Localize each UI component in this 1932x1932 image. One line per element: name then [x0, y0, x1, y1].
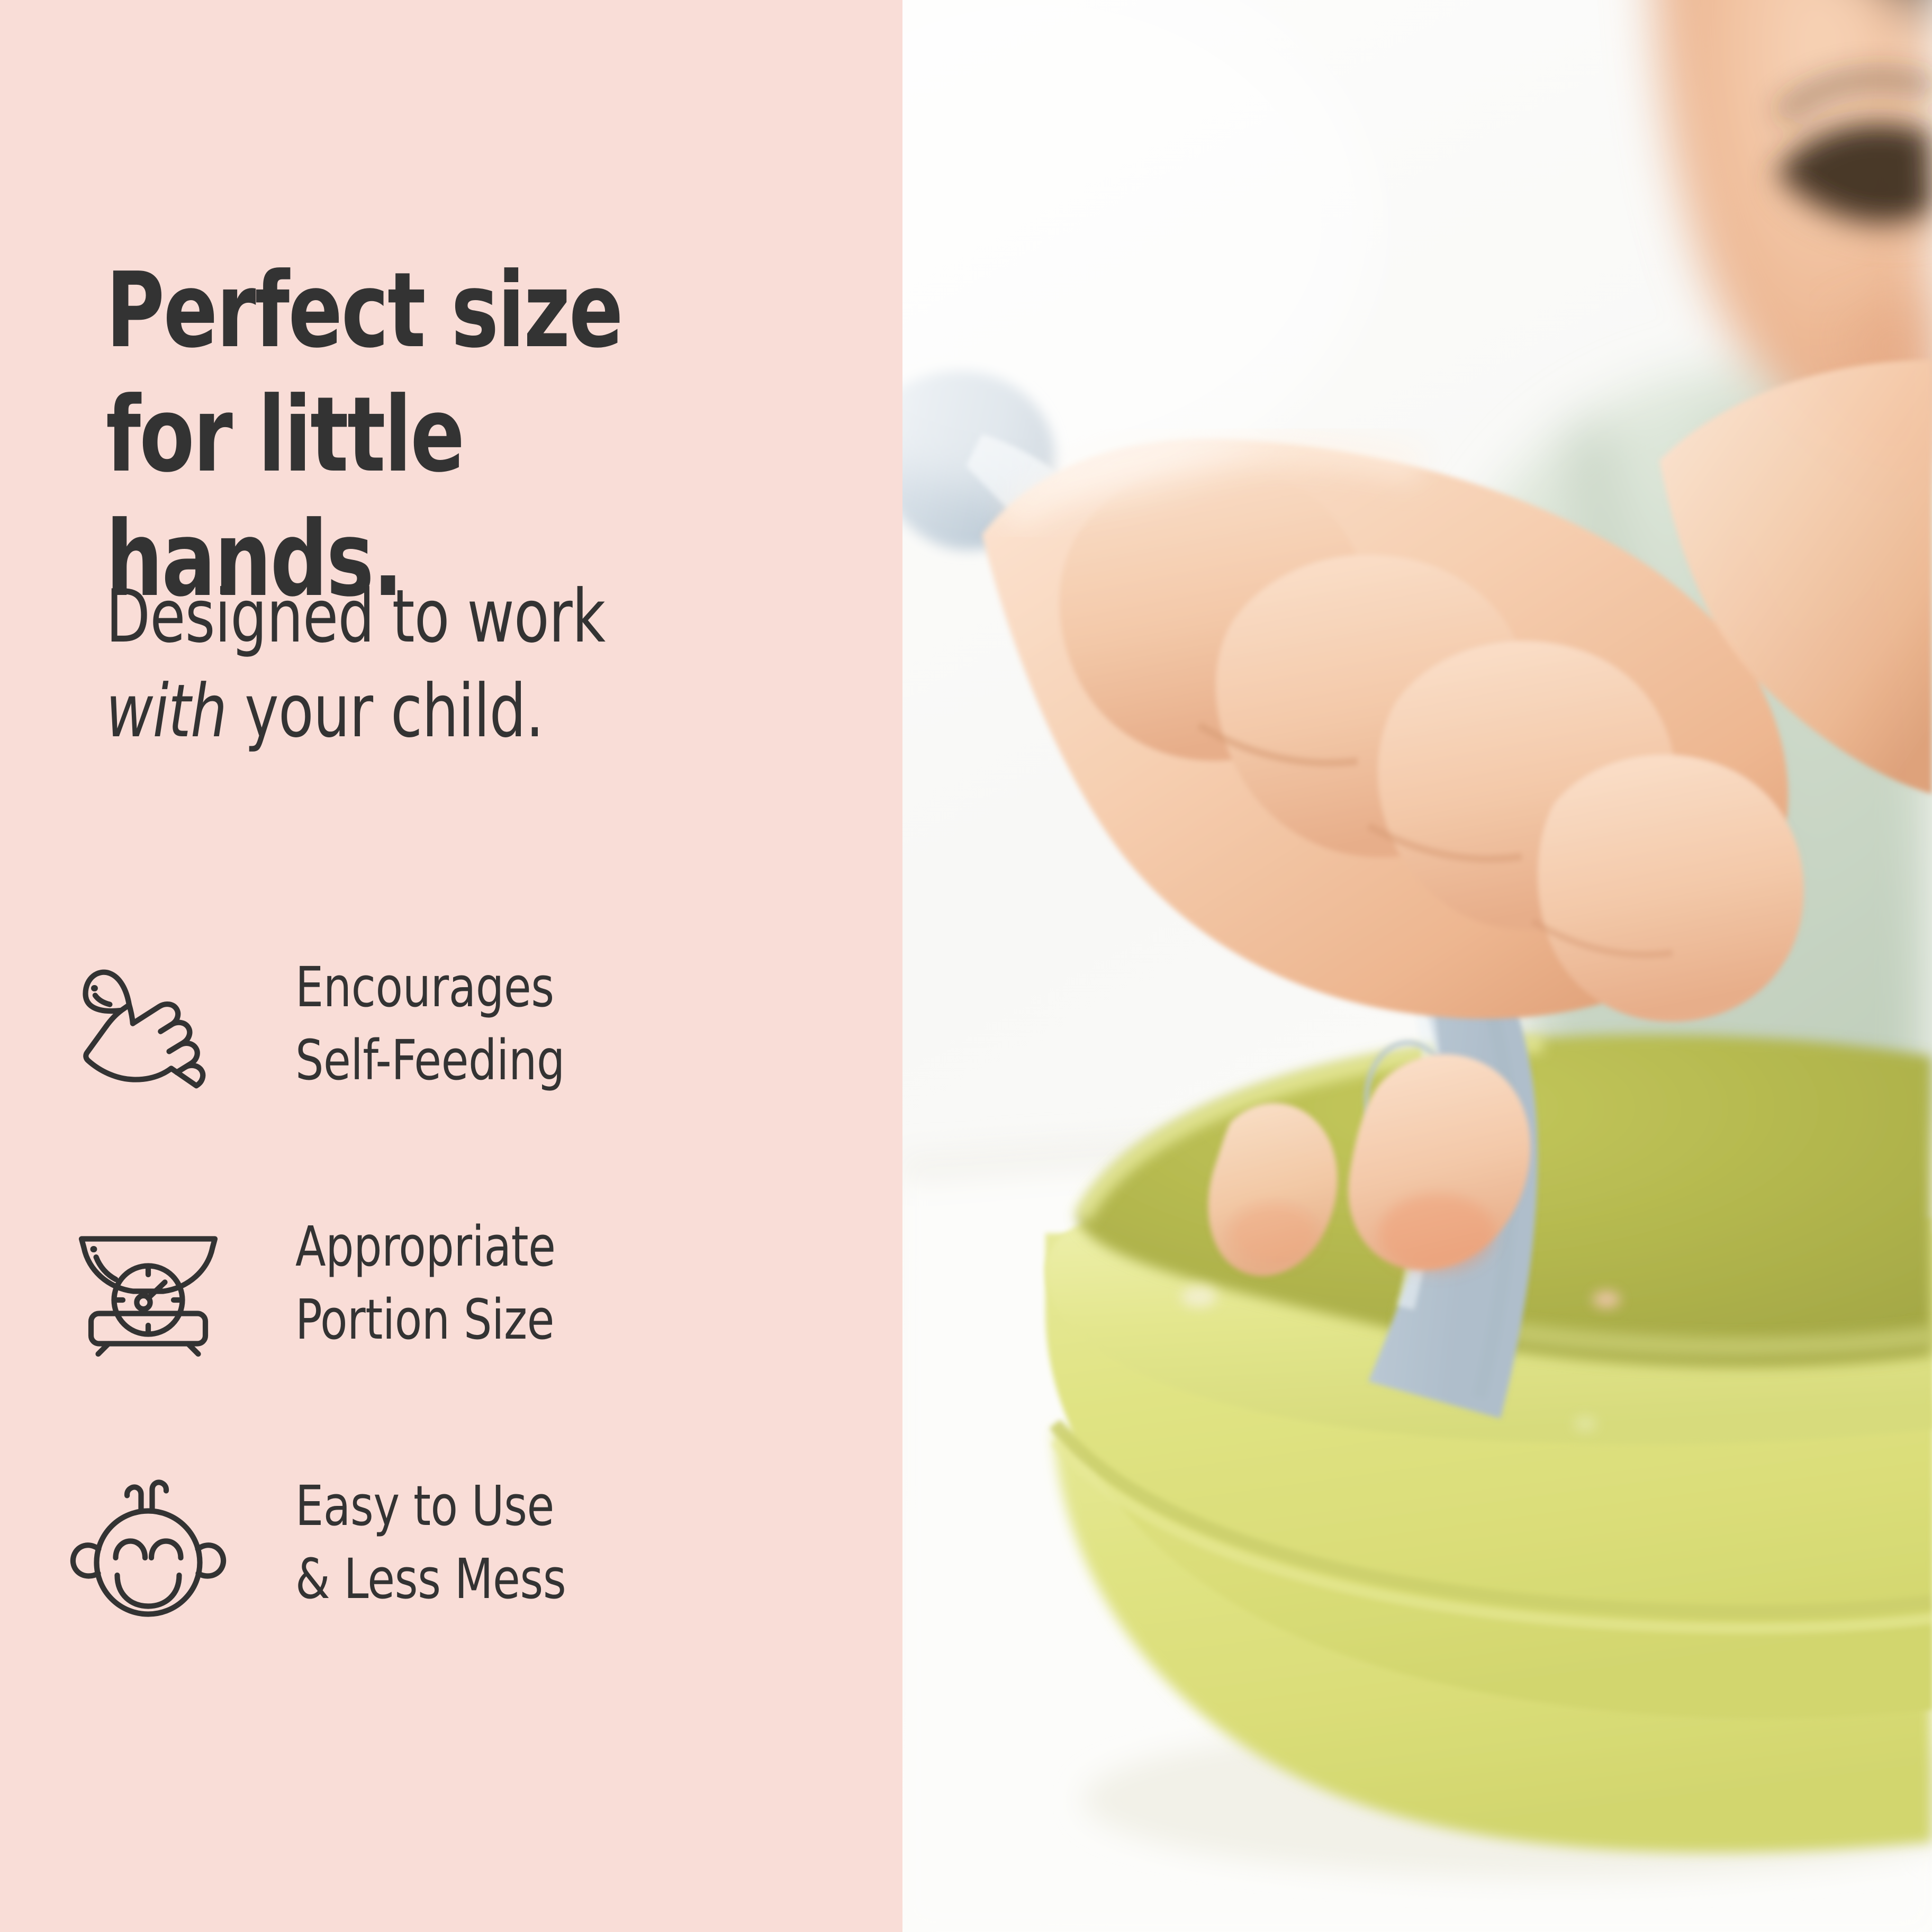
feature-label: Encourages Self-Feeding [295, 951, 819, 1097]
feature-label: Appropriate Portion Size [295, 1210, 819, 1357]
feature-label: Easy to Use & Less Mess [295, 1469, 819, 1616]
list-item: Encourages Self-Feeding [0, 958, 902, 1217]
info-panel: Perfect size for little hands. Designed … [0, 0, 902, 1932]
product-photo [902, 0, 1932, 1932]
subheading-line-1: Designed to work [106, 574, 605, 659]
hand-holding-spoon-icon [69, 958, 228, 1117]
smiling-baby-face-icon [69, 1477, 228, 1636]
subheading-line-2: your child. [227, 669, 544, 754]
subheading: Designed to work with your child. [106, 569, 786, 759]
feature-list: Encourages Self-Feeding [0, 958, 902, 1736]
kitchen-scale-icon [69, 1217, 228, 1376]
list-item: Easy to Use & Less Mess [0, 1477, 902, 1736]
subheading-emphasis: with [106, 669, 227, 754]
page-title: Perfect size for little hands. [106, 249, 771, 622]
list-item: Appropriate Portion Size [0, 1217, 902, 1477]
marketing-image: Perfect size for little hands. Designed … [0, 0, 1932, 1932]
